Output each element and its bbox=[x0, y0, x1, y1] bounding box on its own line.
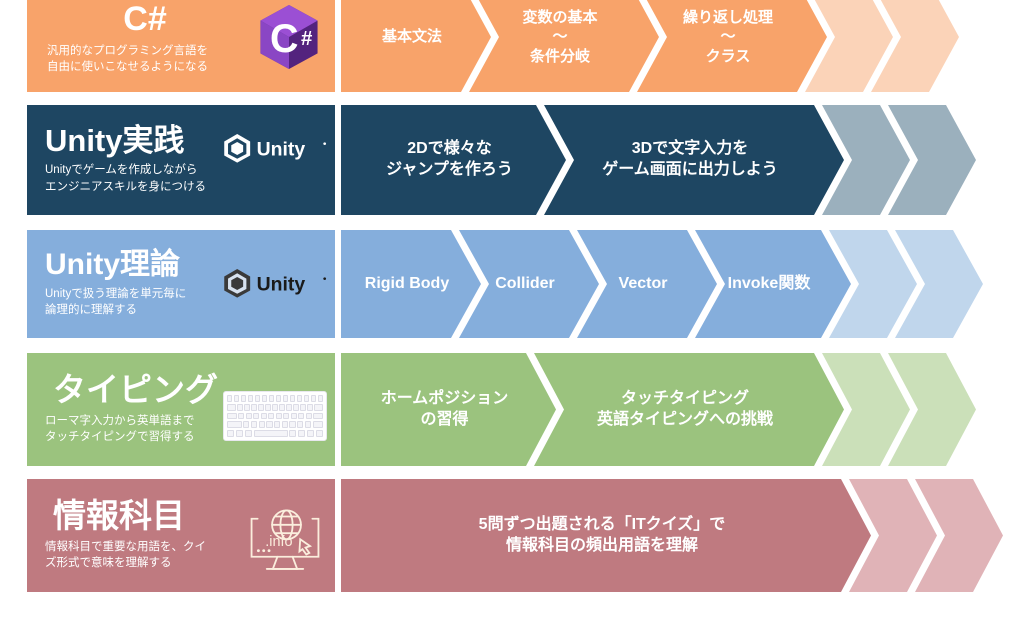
course-card-unity-practice[interactable]: Unity実践 Unityでゲームを作成しながら エンジニアスキルを身につける … bbox=[27, 105, 335, 215]
step-chevron[interactable]: 基本文法 bbox=[341, 0, 491, 92]
curriculum-row-unity-practice: Unity実践 Unityでゲームを作成しながら エンジニアスキルを身につける … bbox=[0, 105, 1020, 215]
step-label: 3Dで文字入力を ゲーム画面に出力しよう bbox=[594, 139, 786, 181]
step-chevron[interactable]: 繰り返し処理 〜 クラス bbox=[637, 0, 827, 92]
svg-text:Unity: Unity bbox=[257, 274, 306, 296]
svg-text:C: C bbox=[270, 17, 298, 61]
curriculum-row-typing: タイピング ローマ字入力から英単語まで タッチタイピングで習得する bbox=[0, 353, 1020, 466]
step-label: 変数の基本 〜 条件分岐 bbox=[514, 8, 605, 67]
step-label: 繰り返し処理 〜 クラス bbox=[675, 8, 781, 67]
step-label: Vector bbox=[611, 274, 676, 295]
step-track-unity-theory: Rigid BodyColliderVectorInvoke関数 bbox=[341, 230, 1020, 338]
step-chevron[interactable]: タッチタイピング 英語タイピングへの挑戦 bbox=[534, 353, 844, 466]
step-chevron[interactable]: 2Dで様々な ジャンプを作ろう bbox=[341, 105, 566, 215]
svg-text:#: # bbox=[301, 28, 313, 50]
keyboard-icon bbox=[223, 391, 327, 441]
step-track-csharp: 基本文法変数の基本 〜 条件分岐繰り返し処理 〜 クラス bbox=[341, 0, 1020, 92]
step-track-unity-practice: 2Dで様々な ジャンプを作ろう3Dで文字入力を ゲーム画面に出力しよう bbox=[341, 105, 1020, 215]
step-label: Invoke関数 bbox=[720, 274, 819, 295]
step-track-typing: ホームポジション の習得タッチタイピング 英語タイピングへの挑戦 bbox=[341, 353, 1020, 466]
unity-logo-dark: Unity bbox=[221, 266, 329, 300]
step-label: 2Dで様々な ジャンプを作ろう bbox=[378, 139, 521, 181]
csharp-logo: C # bbox=[255, 3, 323, 71]
course-card-unity-theory[interactable]: Unity理論 Unityで扱う理論を単元毎に 論理的に理解する Unity bbox=[27, 230, 335, 338]
step-chevron[interactable]: ホームポジション の習得 bbox=[341, 353, 556, 466]
curriculum-row-csharp: C# 汎用的なプログラミング言語を 自由に使いこなせるようになる C # 基本文… bbox=[0, 0, 1020, 92]
curriculum-row-information-subject: 情報科目 情報科目で重要な用語を、クイ ズ形式で意味を理解する bbox=[0, 479, 1020, 592]
step-chevron[interactable]: Rigid Body bbox=[341, 230, 481, 338]
step-label: ホームポジション の習得 bbox=[373, 389, 517, 431]
curriculum-row-unity-theory: Unity理論 Unityで扱う理論を単元毎に 論理的に理解する Unity R… bbox=[0, 230, 1020, 338]
course-card-csharp[interactable]: C# 汎用的なプログラミング言語を 自由に使いこなせるようになる C # bbox=[27, 0, 335, 92]
svg-text:Unity: Unity bbox=[257, 139, 306, 161]
course-card-information-subject[interactable]: 情報科目 情報科目で重要な用語を、クイ ズ形式で意味を理解する bbox=[27, 479, 335, 592]
step-label: 基本文法 bbox=[374, 27, 450, 47]
unity-logo-white: Unity bbox=[221, 131, 329, 165]
step-label: タッチタイピング 英語タイピングへの挑戦 bbox=[589, 389, 781, 431]
course-description: 情報科目で重要な用語を、クイ ズ形式で意味を理解する bbox=[45, 539, 245, 572]
course-description: Unityでゲームを作成しながら エンジニアスキルを身につける bbox=[45, 162, 335, 195]
step-chevron[interactable]: 3Dで文字入力を ゲーム画面に出力しよう bbox=[544, 105, 844, 215]
step-label: 5問ずつ出題される「ITクイズ」で 情報科目の頻出用語を理解 bbox=[471, 515, 734, 557]
svg-text:.info: .info bbox=[265, 534, 292, 550]
course-card-typing[interactable]: タイピング ローマ字入力から英単語まで タッチタイピングで習得する bbox=[27, 353, 335, 466]
step-chevron[interactable]: 変数の基本 〜 条件分岐 bbox=[469, 0, 659, 92]
step-track-information-subject: 5問ずつ出題される「ITクイズ」で 情報科目の頻出用語を理解 bbox=[341, 479, 1020, 592]
step-chevron[interactable]: 5問ずつ出題される「ITクイズ」で 情報科目の頻出用語を理解 bbox=[341, 479, 871, 592]
step-label: Rigid Body bbox=[357, 274, 457, 295]
step-chevron[interactable]: Invoke関数 bbox=[695, 230, 851, 338]
curriculum-roadmap: C# 汎用的なプログラミング言語を 自由に使いこなせるようになる C # 基本文… bbox=[0, 0, 1020, 620]
step-label: Collider bbox=[487, 274, 563, 295]
info-monitor-globe-icon: .info bbox=[247, 499, 323, 575]
